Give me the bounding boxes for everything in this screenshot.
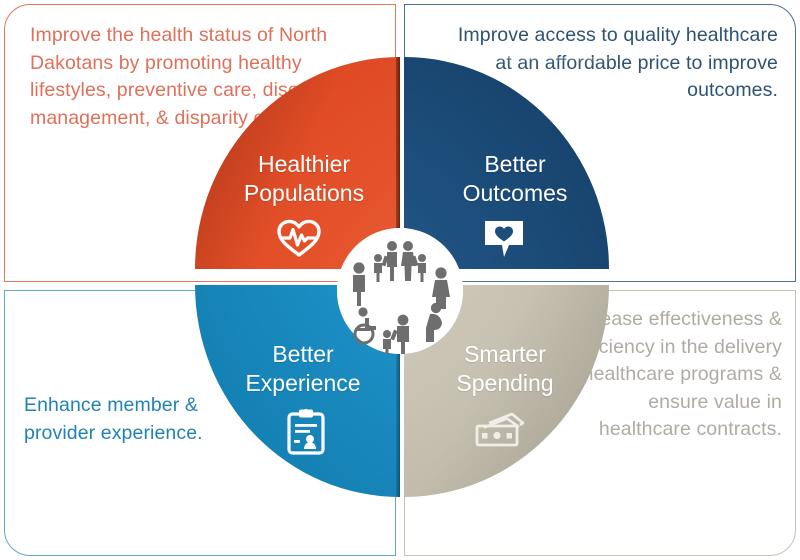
heart-pulse-icon <box>276 218 322 263</box>
label-healthier-populations: Healthier Populations <box>214 150 394 208</box>
speech-bubble-heart-icon <box>482 218 526 265</box>
money-banknotes-icon <box>474 412 526 455</box>
clipboard-person-icon <box>286 408 326 461</box>
label-better-outcomes: Better Outcomes <box>440 150 590 208</box>
quadruple-aim-diagram: Improve the health status of North Dakot… <box>0 0 800 560</box>
people-group-icon <box>337 228 463 354</box>
page-title: Quadruple Aim Framework <box>0 0 1 1</box>
